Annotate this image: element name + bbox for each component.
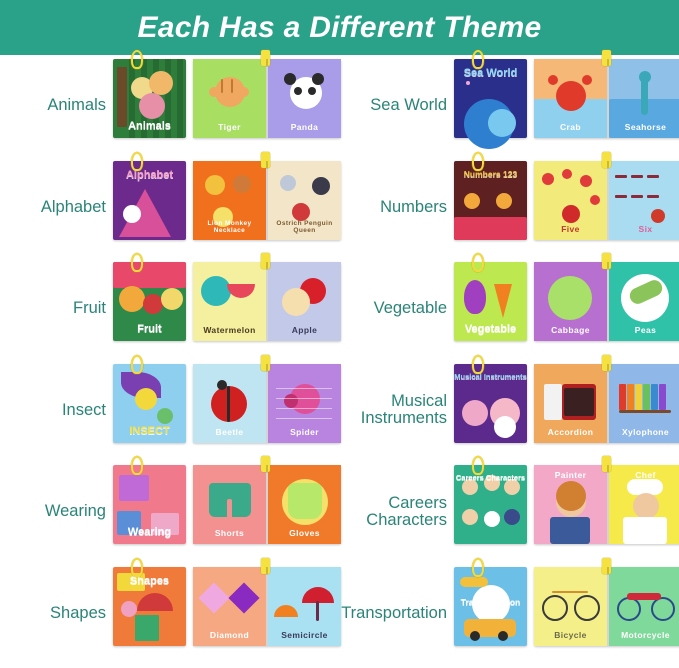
book-page-label: Six [609, 224, 679, 234]
theme-cell: NumbersNumbers 123FiveSix [341, 157, 679, 259]
book-page-label: Diamond [193, 630, 266, 640]
book-page-label: Semicircle [268, 630, 341, 640]
book-cover: Sea World [454, 59, 527, 138]
book-hanging-tab-icon [131, 50, 143, 69]
book-page: Panda [268, 59, 341, 138]
book-spine [266, 364, 268, 443]
theme-label: Musical Instruments [341, 393, 454, 427]
book-images: TransportationBicycleMotorcycle [454, 559, 679, 668]
book-cover: Fruit [113, 262, 186, 341]
book-images: Musical InstrumentsAccordionXylophone [454, 356, 679, 466]
book-images: Numbers 123FiveSix [454, 153, 679, 263]
book-page: Bicycle [534, 567, 607, 646]
theme-label: Numbers [341, 199, 454, 216]
book-page-label: Crab [534, 122, 607, 132]
book-cover: Wearing [113, 465, 186, 544]
book-hanging-tab-icon [472, 152, 484, 171]
book-cover-title: Numbers 123 [454, 169, 527, 179]
theme-label: Alphabet [0, 199, 113, 216]
book-hanging-tab-icon [472, 456, 484, 475]
book-page: Seahorse [609, 59, 679, 138]
book-page: Painter [534, 465, 607, 544]
book-open-spread: ShortsGloves [193, 465, 341, 544]
book-page-label: Accordion [534, 427, 607, 437]
book-page: Apple [268, 262, 341, 341]
book-open-spread: DiamondSemicircle [193, 567, 341, 646]
book-cover-title: Transportation [454, 597, 527, 607]
book-cover-title: Careers Characters [454, 473, 527, 482]
book-cover-title: Animals [113, 120, 186, 132]
book-images: WearingShortsGloves [113, 457, 341, 567]
book-page: Watermelon [193, 262, 266, 341]
book-open-spread: BeetleSpider [193, 364, 341, 443]
book-cover-title: Vegetable [454, 323, 527, 335]
book-page: Shorts [193, 465, 266, 544]
theme-cell: WearingWearingShortsGloves [0, 461, 341, 563]
book-cover: Numbers 123 [454, 161, 527, 240]
book-cover: Vegetable [454, 262, 527, 341]
theme-label: Shapes [0, 605, 113, 622]
book-page-label: Gloves [268, 528, 341, 538]
book-page-label: Bicycle [534, 630, 607, 640]
book-page: Five [534, 161, 607, 240]
book-spine [607, 161, 609, 240]
book-open-spread: BicycleMotorcycle [534, 567, 679, 646]
book-hanging-tab-icon [472, 355, 484, 374]
theme-cell: Careers CharactersCareers CharactersPain… [341, 461, 679, 563]
theme-label: Careers Characters [341, 495, 454, 529]
book-images: AlphabetLion Monkey NecklaceOstrich Peng… [113, 153, 341, 263]
book-page-label: Motorcycle [609, 630, 679, 640]
book-spine [607, 364, 609, 443]
book-cover: Shapes [113, 567, 186, 646]
book-open-spread: WatermelonApple [193, 262, 341, 341]
book-page-label: Panda [268, 122, 341, 132]
book-hanging-tab-icon [472, 558, 484, 577]
theme-grid: AnimalsAnimalsTigerPandaSea WorldSea Wor… [0, 55, 679, 664]
book-cover: Careers Characters [454, 465, 527, 544]
book-page: Crab [534, 59, 607, 138]
theme-label: Fruit [0, 300, 113, 317]
book-page: Ostrich Penguin Queen [268, 161, 341, 240]
book-hanging-tab-icon [131, 152, 143, 171]
book-spine [607, 465, 609, 544]
book-open-spread: AccordionXylophone [534, 364, 679, 443]
book-spine [607, 262, 609, 341]
book-page-label: Watermelon [193, 325, 266, 335]
book-page: Tiger [193, 59, 266, 138]
book-page: Accordion [534, 364, 607, 443]
book-page-label: Shorts [193, 528, 266, 538]
book-page-label: Xylophone [609, 427, 679, 437]
book-cover: Musical Instruments [454, 364, 527, 443]
book-spine [266, 262, 268, 341]
book-hanging-tab-icon [131, 355, 143, 374]
book-page-label: Painter [534, 470, 607, 480]
book-page-label: Ostrich Penguin Queen [268, 220, 341, 234]
book-page: Six [609, 161, 679, 240]
book-page: Beetle [193, 364, 266, 443]
book-cover-title: Alphabet [113, 169, 186, 181]
book-page: Gloves [268, 465, 341, 544]
book-page-label: Cabbage [534, 325, 607, 335]
book-open-spread: CrabSeahorse [534, 59, 679, 138]
theme-cell: AnimalsAnimalsTigerPanda [0, 55, 341, 157]
book-cover: Alphabet [113, 161, 186, 240]
book-cover-title: Sea World [454, 67, 527, 79]
book-page: Spider [268, 364, 341, 443]
book-cover-title: Shapes [113, 575, 186, 587]
book-cover-title: Musical Instruments [454, 372, 527, 381]
book-page: Chef [609, 465, 679, 544]
book-images: INSECTBeetleSpider [113, 356, 341, 466]
book-cover-title: Wearing [113, 526, 186, 538]
book-page: Cabbage [534, 262, 607, 341]
theme-cell: TransportationTransportationBicycleMotor… [341, 563, 679, 665]
book-page: Motorcycle [609, 567, 679, 646]
book-hanging-tab-icon [472, 50, 484, 69]
book-page-label: Tiger [193, 122, 266, 132]
book-cover: Animals [113, 59, 186, 138]
theme-label: Animals [0, 97, 113, 114]
book-page: Peas [609, 262, 679, 341]
book-hanging-tab-icon [131, 558, 143, 577]
book-open-spread: TigerPanda [193, 59, 341, 138]
book-images: ShapesDiamondSemicircle [113, 559, 341, 668]
theme-cell: FruitFruitWatermelonApple [0, 258, 341, 360]
theme-label: Transportation [341, 605, 454, 622]
theme-cell: ShapesShapesDiamondSemicircle [0, 563, 341, 665]
book-images: Careers CharactersPainterChef [454, 457, 679, 567]
book-page: Semicircle [268, 567, 341, 646]
book-open-spread: PainterChef [534, 465, 679, 544]
book-page: Xylophone [609, 364, 679, 443]
theme-label: Wearing [0, 503, 113, 520]
book-hanging-tab-icon [472, 253, 484, 272]
book-page-label: Chef [609, 470, 679, 480]
book-spine [266, 465, 268, 544]
book-page-label: Five [534, 224, 607, 234]
theme-cell: VegetableVegetableCabbagePeas [341, 258, 679, 360]
book-page-label: Peas [609, 325, 679, 335]
book-page-label: Apple [268, 325, 341, 335]
book-cover: Transportation [454, 567, 527, 646]
book-cover-title: INSECT [113, 425, 186, 437]
book-open-spread: CabbagePeas [534, 262, 679, 341]
book-spine [266, 567, 268, 646]
book-open-spread: FiveSix [534, 161, 679, 240]
book-page: Diamond [193, 567, 266, 646]
theme-label: Sea World [341, 97, 454, 114]
book-spine [266, 59, 268, 138]
theme-cell: InsectINSECTBeetleSpider [0, 360, 341, 462]
theme-cell: Sea WorldSea WorldCrabSeahorse [341, 55, 679, 157]
book-page-label: Lion Monkey Necklace [193, 220, 266, 234]
book-spine [607, 567, 609, 646]
book-open-spread: Lion Monkey NecklaceOstrich Penguin Quee… [193, 161, 341, 240]
book-spine [607, 59, 609, 138]
book-page-label: Seahorse [609, 122, 679, 132]
book-hanging-tab-icon [131, 253, 143, 272]
book-images: FruitWatermelonApple [113, 254, 341, 364]
theme-label: Vegetable [341, 300, 454, 317]
book-page-label: Beetle [193, 427, 266, 437]
book-page-label: Spider [268, 427, 341, 437]
theme-label: Insect [0, 402, 113, 419]
book-images: AnimalsTigerPanda [113, 51, 341, 161]
book-cover-title: Fruit [113, 323, 186, 335]
book-images: VegetableCabbagePeas [454, 254, 679, 364]
theme-cell: Musical InstrumentsMusical InstrumentsAc… [341, 360, 679, 462]
book-spine [266, 161, 268, 240]
book-images: Sea WorldCrabSeahorse [454, 51, 679, 161]
page-title: Each Has a Different Theme [137, 11, 541, 45]
book-cover: INSECT [113, 364, 186, 443]
theme-cell: AlphabetAlphabetLion Monkey NecklaceOstr… [0, 157, 341, 259]
book-hanging-tab-icon [131, 456, 143, 475]
header-banner: Each Has a Different Theme [0, 0, 679, 55]
book-page: Lion Monkey Necklace [193, 161, 266, 240]
